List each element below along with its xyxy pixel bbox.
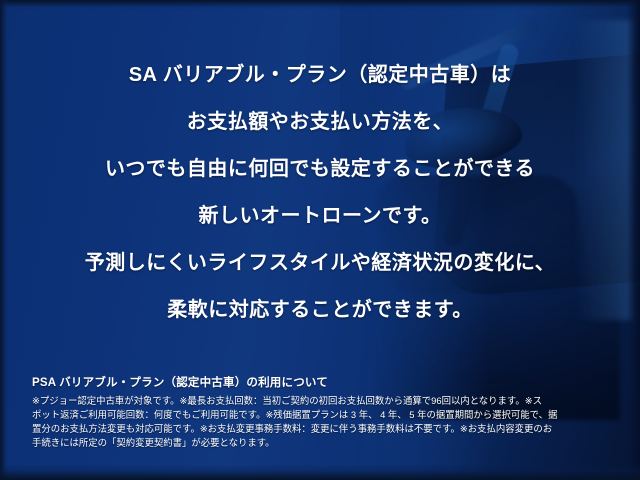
- banner-content: SA バリアブル・プラン（認定中古車）は お支払額やお支払い方法を、 いつでも自…: [0, 0, 640, 480]
- headline-line-2: お支払額やお支払い方法を、: [0, 99, 640, 146]
- headline-line-4: 新しいオートローンです。: [0, 193, 640, 240]
- disclaimer-line-4: 手続きには所定の「契約変更契約書」が必要となります。: [32, 436, 618, 450]
- promo-banner: SA バリアブル・プラン（認定中古車）は お支払額やお支払い方法を、 いつでも自…: [0, 0, 640, 480]
- disclaimer-line-1: ※プジョー認定中古車が対象です。※最長お支払回数：当初ご契約の初回お支払回数から…: [32, 394, 618, 408]
- headline-line-5: 予測しにくいライフスタイルや経済状況の変化に、: [0, 240, 640, 287]
- disclaimer-line-2: ポット返済ご利用可能回数：何度でもご利用可能です。※残価据置プランは 3 年、 …: [32, 408, 618, 422]
- disclaimer-line-3: 置分のお支払方法変更も対応可能です。※お支払変更事務手数料：変更に伴う事務手数料…: [32, 422, 618, 436]
- headline: SA バリアブル・プラン（認定中古車）は お支払額やお支払い方法を、 いつでも自…: [0, 0, 640, 334]
- disclaimer-title: PSA バリアブル・プラン（認定中古車）の利用について: [32, 376, 618, 391]
- headline-line-6: 柔軟に対応することができます。: [0, 287, 640, 334]
- headline-line-3: いつでも自由に何回でも設定することができる: [0, 146, 640, 193]
- disclaimer-block: PSA バリアブル・プラン（認定中古車）の利用について ※プジョー認定中古車が対…: [32, 376, 618, 450]
- headline-line-1: SA バリアブル・プラン（認定中古車）は: [0, 52, 640, 99]
- disclaimer-body: ※プジョー認定中古車が対象です。※最長お支払回数：当初ご契約の初回お支払回数から…: [32, 394, 618, 450]
